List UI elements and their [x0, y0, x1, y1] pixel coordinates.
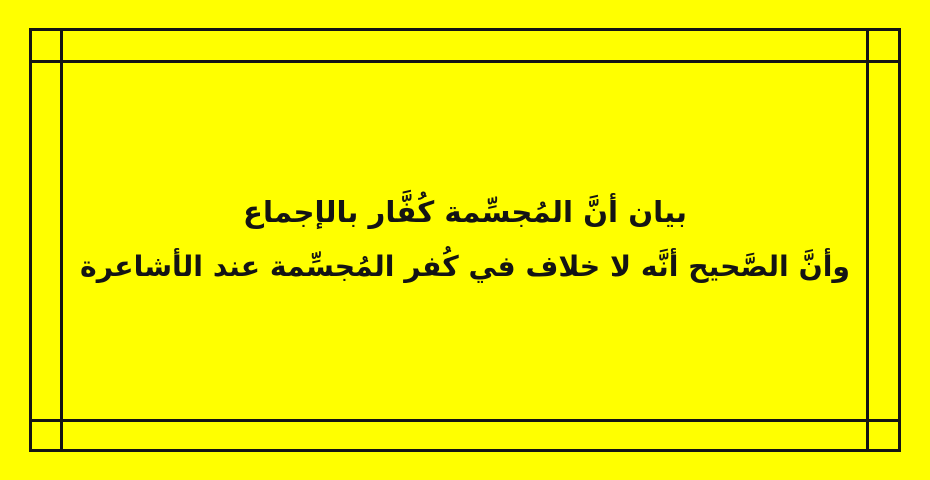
- headline-block: بيان أنَّ المُجسِّمة كُفَّار بالإجماع وأ…: [62, 61, 868, 419]
- outer-left-border-line: [29, 28, 32, 452]
- poster-canvas: بيان أنَّ المُجسِّمة كُفَّار بالإجماع وأ…: [0, 0, 930, 480]
- outer-right-border-line: [898, 28, 901, 452]
- inner-bottom-border-line: [29, 419, 901, 422]
- outer-top-border-line: [29, 28, 901, 31]
- headline-line-2: وأنَّ الصَّحيح أنَّه لا خلاف في كُفر الم…: [80, 253, 850, 281]
- headline-line-1: بيان أنَّ المُجسِّمة كُفَّار بالإجماع: [243, 198, 687, 227]
- outer-bottom-border-line: [29, 449, 901, 452]
